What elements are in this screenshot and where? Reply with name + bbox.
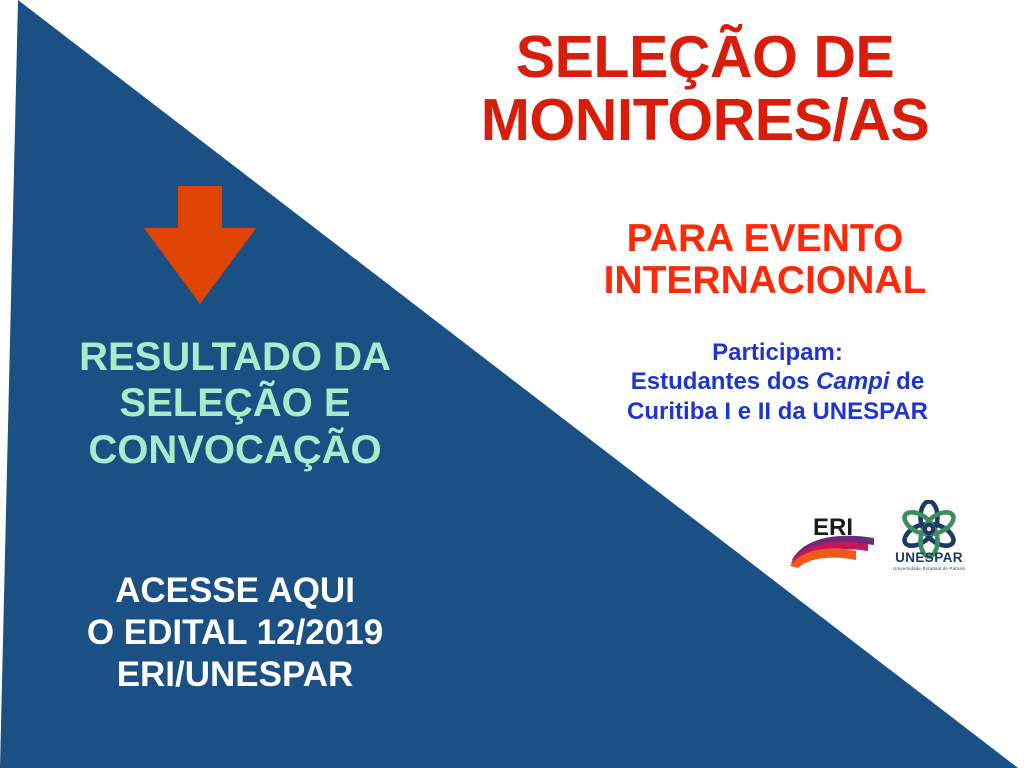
participants-line-2-prefix: Estudantes dos xyxy=(631,368,816,395)
participants-line-3: Curitiba I e II da UNESPAR xyxy=(545,397,1010,426)
participants-block: Participam: Estudantes dos Campi de Curi… xyxy=(545,338,1010,426)
access-line-3: ERI/UNESPAR xyxy=(5,654,465,696)
result-heading: RESULTADO DA SELEÇÃO E CONVOCAÇÃO xyxy=(5,334,465,473)
poster-canvas: SELEÇÃO DE MONITORES/AS PARA EVENTO INTE… xyxy=(0,0,1024,768)
access-line-1: ACESSE AQUI xyxy=(5,570,465,612)
unespar-wordmark-text: UNESPAR xyxy=(895,550,963,565)
page-subtitle-line-2: INTERNACIONAL xyxy=(520,260,1010,302)
page-subtitle-line-1: PARA EVENTO xyxy=(520,218,1010,260)
result-heading-line-2: SELEÇÃO E xyxy=(5,380,465,426)
page-subtitle: PARA EVENTO INTERNACIONAL xyxy=(520,218,1010,302)
logo-row: ERI xyxy=(790,500,990,580)
unespar-emblem xyxy=(901,502,957,557)
arrow-down-icon xyxy=(130,186,270,308)
participants-line-2-suffix: de xyxy=(890,368,925,395)
unespar-logo: UNESPAR Universidade Estadual do Paraná xyxy=(890,500,968,576)
page-title-line-1: SELEÇÃO DE xyxy=(400,26,1010,89)
participants-line-2-italic: Campi xyxy=(816,368,889,395)
result-heading-line-1: RESULTADO DA xyxy=(5,334,465,380)
access-link-block[interactable]: ACESSE AQUI O EDITAL 12/2019 ERI/UNESPAR xyxy=(5,570,465,696)
participants-line-2: Estudantes dos Campi de xyxy=(545,367,1010,396)
result-heading-line-3: CONVOCAÇÃO xyxy=(5,427,465,473)
participants-label: Participam: xyxy=(545,338,1010,367)
down-arrow xyxy=(130,186,270,308)
page-title-line-2: MONITORES/AS xyxy=(400,89,1010,152)
access-line-2: O EDITAL 12/2019 xyxy=(5,612,465,654)
page-title: SELEÇÃO DE MONITORES/AS xyxy=(400,26,1010,152)
eri-logo: ERI xyxy=(790,508,876,568)
unespar-tagline-text: Universidade Estadual do Paraná xyxy=(893,566,965,571)
